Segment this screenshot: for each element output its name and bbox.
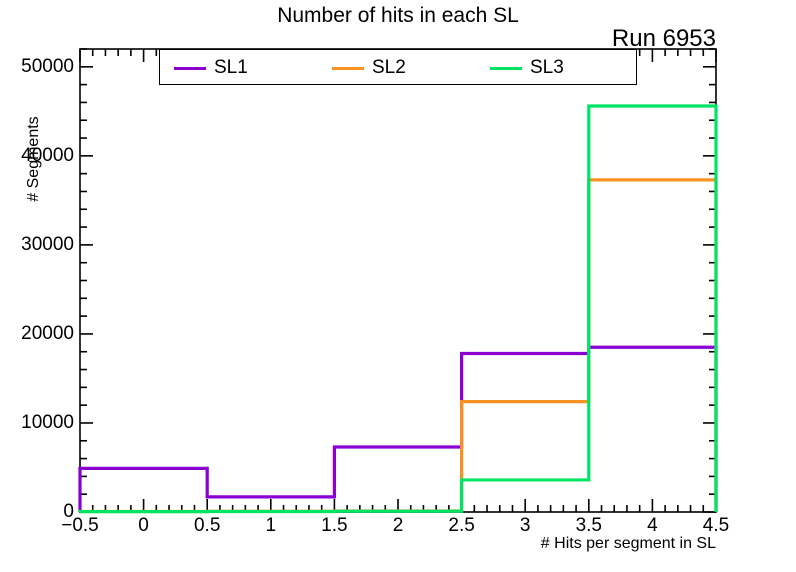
x-tick-label: 2 — [363, 516, 433, 535]
legend-label: SL3 — [530, 58, 564, 78]
legend-label: SL1 — [214, 58, 248, 78]
y-tick-label: 50000 — [0, 57, 74, 76]
legend-swatch-sl1 — [174, 67, 206, 70]
x-tick-label: 1 — [236, 516, 306, 535]
plot-frame — [80, 49, 716, 512]
x-tick-label: −0.5 — [45, 516, 115, 535]
y-tick-label: 30000 — [0, 235, 74, 254]
x-tick-label: 1.5 — [299, 516, 369, 535]
legend: SL1SL2SL3 — [159, 49, 637, 85]
series-line-sl1 — [80, 347, 716, 512]
legend-swatch-sl2 — [332, 67, 364, 70]
legend-swatch-sl3 — [490, 67, 522, 70]
x-tick-label: 3.5 — [554, 516, 624, 535]
x-axis-label: # Hits per segment in SL — [416, 535, 716, 553]
y-tick-label: 10000 — [0, 413, 74, 432]
x-tick-label: 4.5 — [681, 516, 751, 535]
x-tick-label: 0 — [109, 516, 179, 535]
x-tick-label: 3 — [490, 516, 560, 535]
y-tick-label: 20000 — [0, 324, 74, 343]
x-tick-label: 4 — [617, 516, 687, 535]
legend-label: SL2 — [372, 58, 406, 78]
x-tick-label: 0.5 — [172, 516, 242, 535]
y-tick-label: 40000 — [0, 146, 74, 165]
series-line-sl3 — [80, 106, 716, 512]
plot-canvas — [0, 0, 796, 572]
x-tick-label: 2.5 — [427, 516, 497, 535]
